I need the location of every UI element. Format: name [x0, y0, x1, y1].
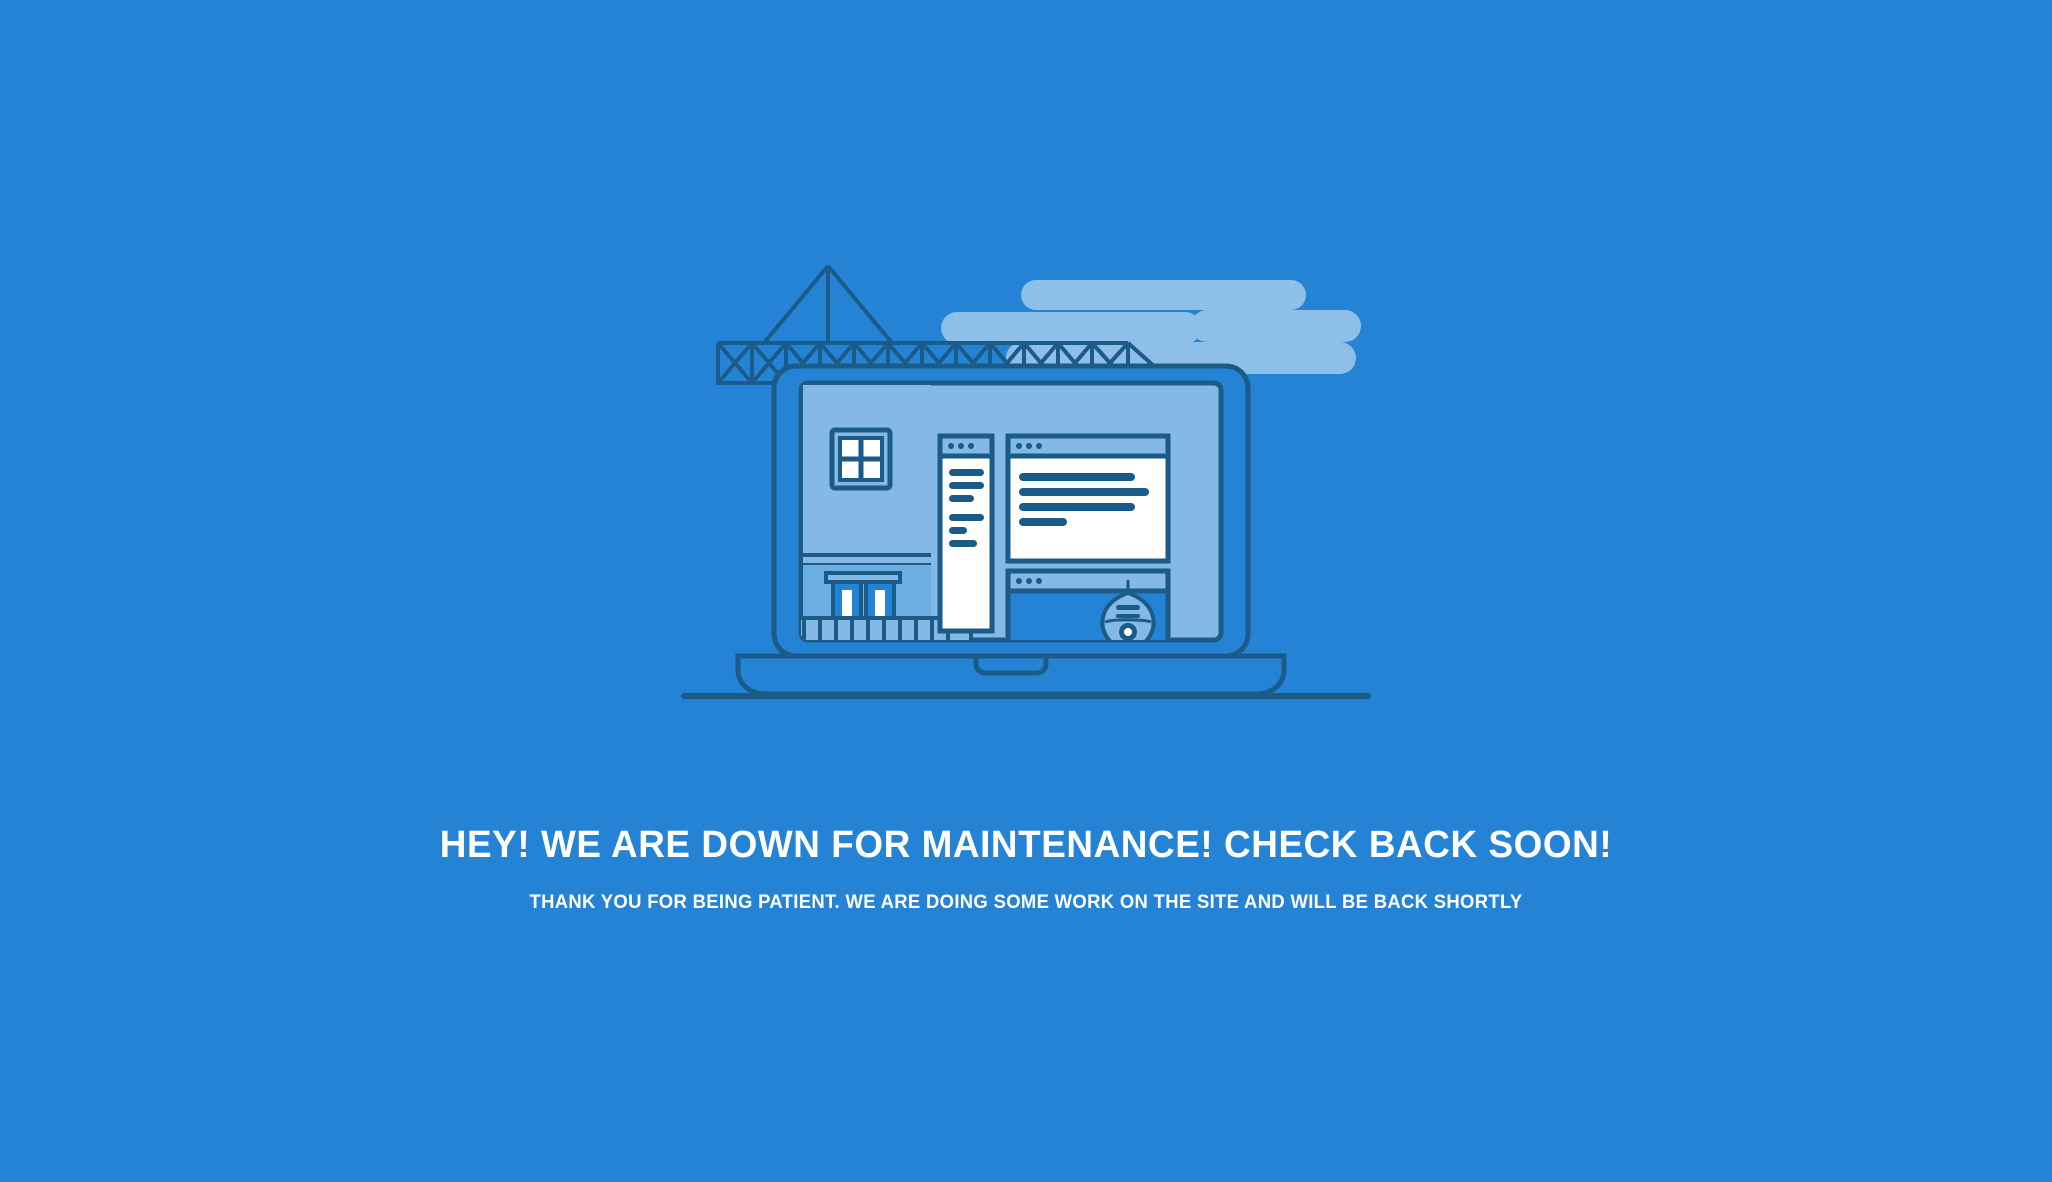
construction-crane-laptop-illustration [676, 250, 1376, 750]
laptop-base [738, 656, 1284, 694]
house-doors [833, 582, 894, 642]
page-subheadline: THANK YOU FOR BEING PATIENT. WE ARE DOIN… [31, 892, 2021, 915]
sidebar-text-lines [949, 469, 984, 547]
house-window [832, 430, 890, 488]
laptop-lid [774, 366, 1248, 656]
browser-dots [1016, 578, 1042, 584]
tower-crane [718, 266, 1173, 595]
illustration-container [0, 0, 2052, 790]
cloud [941, 280, 1361, 374]
maintenance-text-block: HEY! WE ARE DOWN FOR MAINTENANCE! CHECK … [0, 825, 2052, 915]
crane-cabin [839, 383, 886, 475]
fence-slats [772, 618, 948, 642]
crane-jib [718, 343, 1173, 383]
browser-window-main [1008, 436, 1168, 561]
house-door-lintel [826, 573, 900, 582]
page-headline: HEY! WE ARE DOWN FOR MAINTENANCE! CHECK … [31, 825, 2021, 867]
browser-window-sidebar [940, 436, 992, 631]
crane-apex [764, 266, 892, 343]
crane-hook [1102, 580, 1153, 674]
house [803, 385, 931, 642]
laptop-trackpad-notch [976, 656, 1046, 673]
house-floor-divider [803, 555, 931, 565]
main-text-lines [1019, 473, 1149, 526]
crane-mast [776, 383, 836, 502]
laptop-screen [801, 383, 1221, 640]
fence-platform [756, 618, 971, 664]
browser-window-preview [1008, 571, 1168, 669]
browser-dots [1016, 443, 1042, 449]
browser-dots [948, 443, 974, 449]
maintenance-page: HEY! WE ARE DOWN FOR MAINTENANCE! CHECK … [0, 0, 2052, 1182]
